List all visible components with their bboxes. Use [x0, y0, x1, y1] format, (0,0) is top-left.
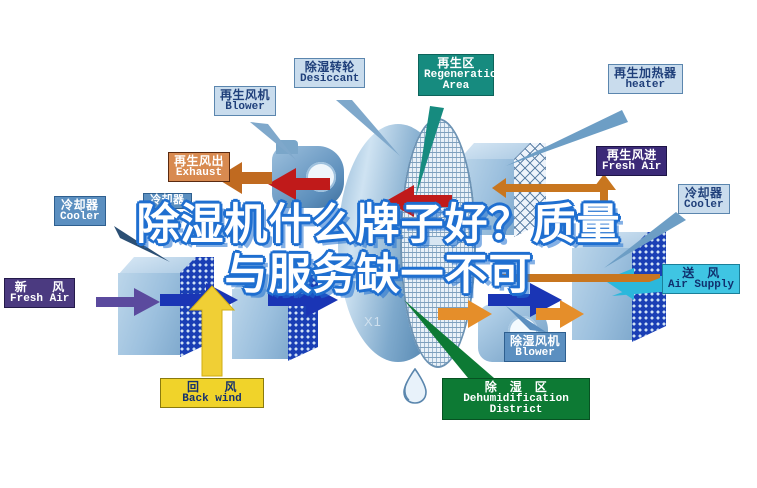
label-dehum-area[interactable]: 除 湿 区 Dehumidification District: [442, 378, 590, 420]
label-regen-heater-cn: 再生加热器: [614, 67, 677, 80]
label-back-wind-cn: 回 风: [166, 381, 258, 394]
label-dehum-blower-en: Blower: [510, 348, 560, 360]
label-dehum-area-cn: 除 湿 区: [448, 381, 584, 394]
title-overlay-line2: 与服务缺一不可: [0, 250, 757, 300]
label-desiccant-en: Desiccant: [300, 74, 359, 86]
label-back-wind-en: Back wind: [166, 394, 258, 406]
label-regen-inlet-en: Fresh Air: [602, 162, 661, 174]
water-drop-icon: [398, 368, 432, 404]
label-regen-blower-cn: 再生风机: [220, 89, 270, 102]
label-dehum-blower-cn: 除湿风机: [510, 335, 560, 348]
label-regen-blower-en: Blower: [220, 102, 270, 114]
label-regen-exhaust-cn: 再生风出: [174, 155, 224, 168]
title-overlay-line1: 除湿机什么牌子好？质量: [0, 200, 757, 250]
label-regen-area[interactable]: 再生区 Regeneration Area: [418, 54, 494, 96]
regen-blower-inlet: [276, 140, 298, 154]
label-regen-heater-en: heater: [614, 80, 677, 92]
label-regen-exhaust-en: Exhaust: [174, 168, 224, 180]
label-regen-area-en: Regeneration Area: [424, 70, 488, 93]
label-cooler-right-cn: 冷却器: [684, 187, 724, 200]
dehumidifier-flow-diagram: X1: [0, 0, 757, 488]
label-regen-inlet-cn: 再生风进: [602, 149, 661, 162]
label-desiccant[interactable]: 除湿转轮 Desiccant: [294, 58, 365, 88]
label-back-wind[interactable]: 回 风 Back wind: [160, 378, 264, 408]
label-regen-exhaust[interactable]: 再生风出 Exhaust: [168, 152, 230, 182]
rotor-watermark: X1: [364, 314, 382, 329]
title-overlay: 除湿机什么牌子好？质量 与服务缺一不可: [0, 200, 757, 300]
label-desiccant-cn: 除湿转轮: [300, 61, 359, 74]
label-regen-heater[interactable]: 再生加热器 heater: [608, 64, 683, 94]
label-regen-area-cn: 再生区: [424, 57, 488, 70]
label-dehum-area-en: Dehumidification District: [448, 394, 584, 417]
label-regen-blower[interactable]: 再生风机 Blower: [214, 86, 276, 116]
label-dehum-blower[interactable]: 除湿风机 Blower: [504, 332, 566, 362]
label-regen-inlet[interactable]: 再生风进 Fresh Air: [596, 146, 667, 176]
